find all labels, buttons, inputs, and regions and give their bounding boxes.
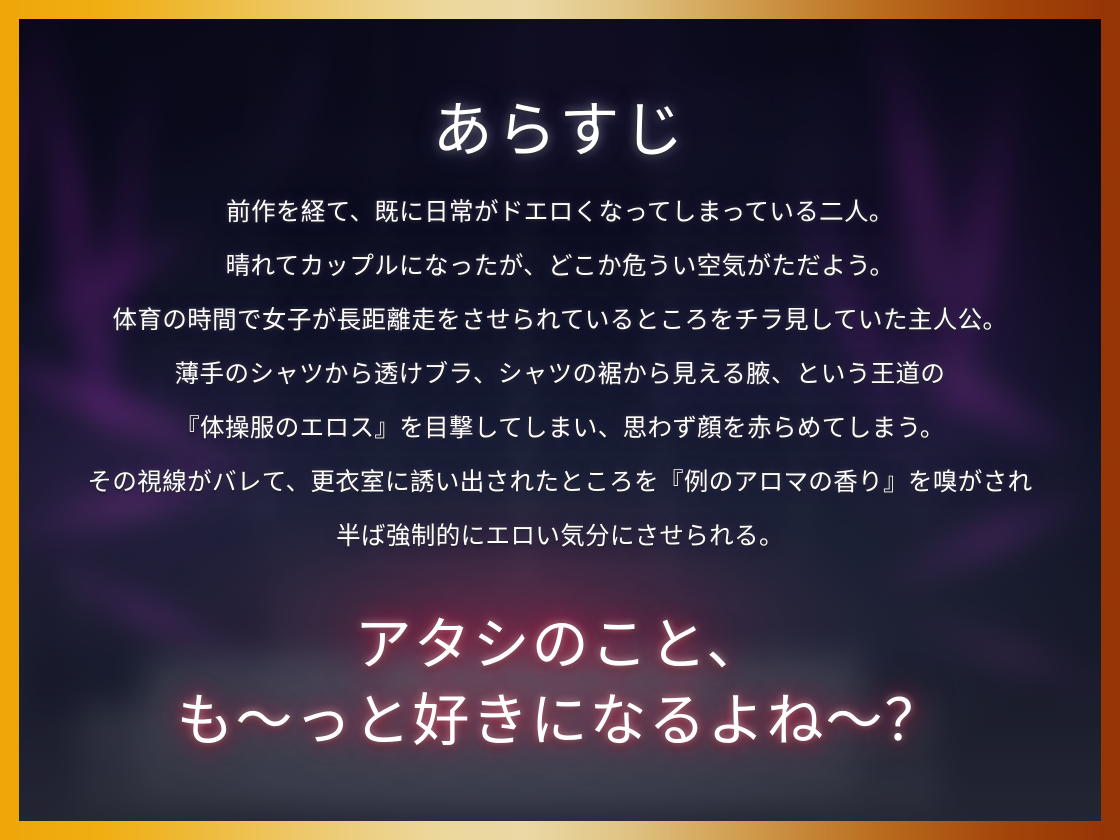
synopsis-line: その視線がバレて、更衣室に誘い出されたところを『例のアロマの香り』を嗅がされ (19, 467, 1101, 497)
synopsis-heading: あらすじ (19, 101, 1101, 161)
text-content: あらすじ 前作を経て、既に日常がドエロくなってしまっている二人。 晴れてカップル… (19, 19, 1101, 821)
synopsis-line: 前作を経て、既に日常がドエロくなってしまっている二人。 (19, 197, 1101, 227)
frame-right-border (1101, 0, 1120, 840)
frame-left-border (0, 0, 19, 840)
synopsis-body: 前作を経て、既に日常がドエロくなってしまっている二人。 晴れてカップルになったが… (19, 197, 1101, 575)
synopsis-line: 体育の時間で女子が長距離走をさせられているところをチラ見していた主人公。 (19, 305, 1101, 335)
synopsis-line: 薄手のシャツから透けブラ、シャツの裾から見える腋、という王道の (19, 359, 1101, 389)
artwork-area: あらすじ 前作を経て、既に日常がドエロくなってしまっている二人。 晴れてカップル… (19, 19, 1101, 821)
headline-line: も〜っと好きになるよね〜？ (19, 683, 1101, 759)
headline-line: アタシのこと、 (19, 607, 1101, 683)
promo-card-frame: あらすじ 前作を経て、既に日常がドエロくなってしまっている二人。 晴れてカップル… (0, 0, 1120, 840)
synopsis-line: 半ば強制的にエロい気分にさせられる。 (19, 521, 1101, 551)
headline-quote: アタシのこと、 も〜っと好きになるよね〜？ (19, 607, 1101, 759)
synopsis-line: 『体操服のエロス』を目撃してしまい、思わず顔を赤らめてしまう。 (19, 413, 1101, 443)
synopsis-line: 晴れてカップルになったが、どこか危うい空気がただよう。 (19, 251, 1101, 281)
